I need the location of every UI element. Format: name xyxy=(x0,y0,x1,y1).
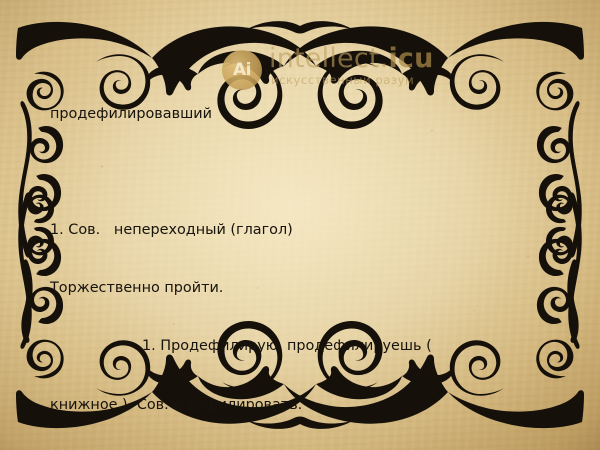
dictionary-entry: продефилировавший 1. Сов. непереходный (… xyxy=(50,66,496,450)
entry-headword: продефилировавший xyxy=(50,105,496,124)
definition-line: 1. Сов. непереходный (глагол) xyxy=(50,221,496,240)
definition-line: книжное ). Сов. к дефилировать. xyxy=(50,396,496,415)
border-connector-top xyxy=(246,21,354,33)
definition-line: Торжественно пройти. xyxy=(50,279,496,298)
definition-line: 1. Продефилирую, продефилируешь ( xyxy=(50,337,496,356)
border-connector-right xyxy=(567,259,578,342)
entry-definition-block: 1. Сов. непереходный (глагол) Торжествен… xyxy=(50,182,496,450)
dictionary-slide: Ai intellect.icu искусственный разум про… xyxy=(0,0,600,450)
border-connector-left xyxy=(21,259,32,342)
